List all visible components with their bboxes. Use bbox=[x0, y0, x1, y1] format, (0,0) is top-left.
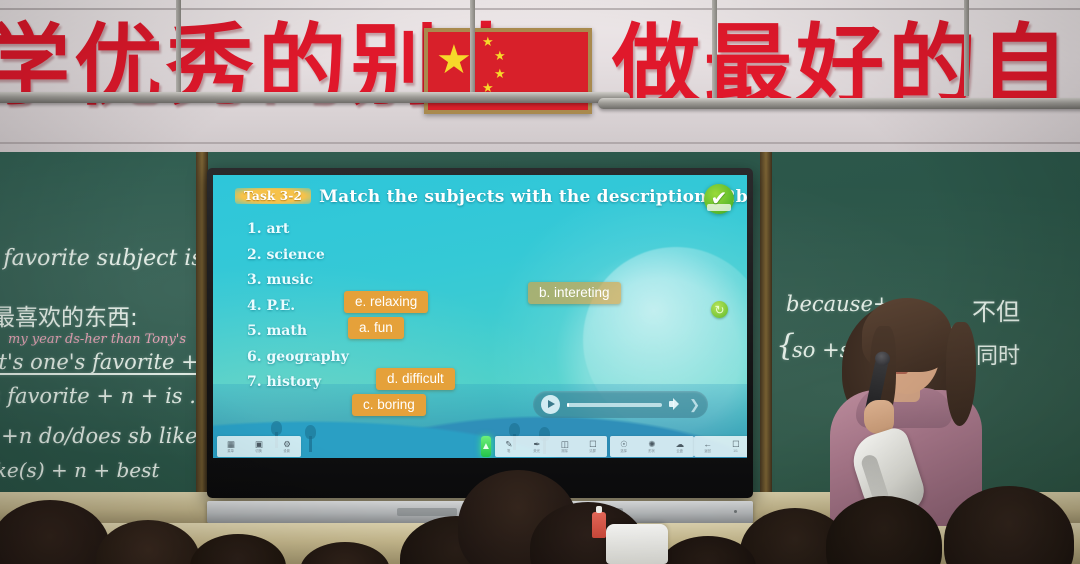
chalk-line: 's favorite + n + is ... bbox=[0, 384, 209, 408]
toolbar-group-menu[interactable]: ▦菜单 ▣切换 ⚙设置 bbox=[217, 436, 301, 457]
ceiling-rod bbox=[964, 0, 969, 96]
ceiling-rod bbox=[712, 0, 717, 100]
grid-icon[interactable]: ▦菜单 bbox=[217, 436, 245, 457]
slide-title: Task 3-2Match the subjects with the desc… bbox=[235, 187, 687, 207]
toolbar-group-pens[interactable]: ✎笔 ✒荧光 ◫擦除 ☐清屏 bbox=[495, 436, 607, 457]
page-icon[interactable]: ☐1/1 bbox=[722, 436, 747, 457]
hanging-pipe bbox=[598, 98, 1080, 109]
window-icon[interactable]: ▣切换 bbox=[245, 436, 273, 457]
classroom-photo: 学优秀的别人 做最好的自己 ★ ★ ★ ★ ★ y favorite subje… bbox=[0, 0, 1080, 564]
subject-list: 1. art 2. science 3. music 4. P.E. 5. ma… bbox=[247, 221, 349, 400]
cloud-icon[interactable]: ☁云盘 bbox=[666, 436, 694, 457]
settings-icon[interactable]: ⚙设置 bbox=[273, 436, 301, 457]
answer-chip[interactable]: e. relaxing bbox=[344, 291, 428, 313]
smartboard-screen[interactable]: Task 3-2Match the subjects with the desc… bbox=[213, 175, 747, 458]
chalk-line: my year ds-her than Tony's bbox=[8, 332, 186, 347]
home-key-icon[interactable]: ▲ bbox=[481, 436, 491, 457]
ir-sensor bbox=[734, 510, 737, 513]
select-icon[interactable]: ☉选择 bbox=[610, 436, 638, 457]
flag-star-large: ★ bbox=[436, 40, 472, 80]
list-item: 6. geography bbox=[247, 349, 349, 365]
pen-icon[interactable]: ✎笔 bbox=[495, 436, 523, 457]
toolbar-group-pages[interactable]: ←返回 ☐1/1 ›更多 bbox=[694, 436, 747, 457]
smartboard-display[interactable]: Task 3-2Match the subjects with the desc… bbox=[207, 168, 753, 498]
answer-chip[interactable]: d. difficult bbox=[376, 368, 455, 390]
white-cap bbox=[606, 524, 668, 564]
ceiling-rod bbox=[470, 0, 475, 92]
answer-chip[interactable]: b. intereting bbox=[528, 282, 621, 304]
smartboard-toolbar[interactable]: ▦菜单 ▣切换 ⚙设置 ▲ ✎笔 ✒荧光 ◫擦除 ☐清屏 ☉选择 ✺形状 ☁云盘 bbox=[213, 434, 747, 458]
list-item: 1. art bbox=[247, 221, 349, 237]
chevron-right-icon[interactable]: ❯ bbox=[689, 397, 700, 413]
answer-chip[interactable]: a. fun bbox=[348, 317, 404, 339]
slide-title-text: Match the subjects with the descriptions… bbox=[319, 187, 747, 207]
volume-icon[interactable] bbox=[669, 398, 682, 411]
flag-star-small: ★ bbox=[482, 35, 494, 48]
ceiling-rod bbox=[176, 0, 181, 96]
clear-icon[interactable]: ☐清屏 bbox=[579, 436, 607, 457]
list-item: 3. music bbox=[247, 272, 349, 288]
media-player[interactable]: ❯ bbox=[533, 391, 708, 418]
green-refresh-icon[interactable] bbox=[711, 301, 728, 318]
speaker-grill bbox=[397, 508, 457, 516]
student-presenter bbox=[828, 296, 988, 526]
classroom-wall: 学优秀的别人 做最好的自己 ★ ★ ★ ★ ★ bbox=[0, 0, 1080, 152]
flag-star-small: ★ bbox=[494, 67, 506, 80]
shape-icon[interactable]: ✺形状 bbox=[638, 436, 666, 457]
chalk-bracket: { bbox=[776, 328, 795, 363]
back-icon[interactable]: ←返回 bbox=[694, 436, 722, 457]
chalk-line: like(s) + n + best bbox=[0, 458, 159, 482]
chalk-line: 最喜欢的东西: bbox=[0, 298, 138, 332]
toolbar-group-tools[interactable]: ☉选择 ✺形状 ☁云盘 bbox=[610, 436, 694, 457]
water-bottle bbox=[592, 512, 606, 538]
play-icon[interactable] bbox=[541, 395, 560, 414]
list-item: 4. P.E. bbox=[247, 298, 349, 314]
hanging-pipe bbox=[0, 92, 630, 103]
marker-icon[interactable]: ✒荧光 bbox=[523, 436, 551, 457]
flag-star-small: ★ bbox=[494, 49, 506, 62]
progress-slider[interactable] bbox=[567, 403, 662, 407]
green-check-icon[interactable] bbox=[704, 184, 734, 214]
list-item: 7. history bbox=[247, 374, 349, 390]
list-item: 2. science bbox=[247, 247, 349, 263]
task-badge: Task 3-2 bbox=[235, 188, 311, 204]
eraser-icon[interactable]: ◫擦除 bbox=[551, 436, 579, 457]
answer-chip[interactable]: c. boring bbox=[352, 394, 426, 416]
list-item: 5. math bbox=[247, 323, 349, 339]
blackboard-frame-right bbox=[760, 152, 772, 492]
